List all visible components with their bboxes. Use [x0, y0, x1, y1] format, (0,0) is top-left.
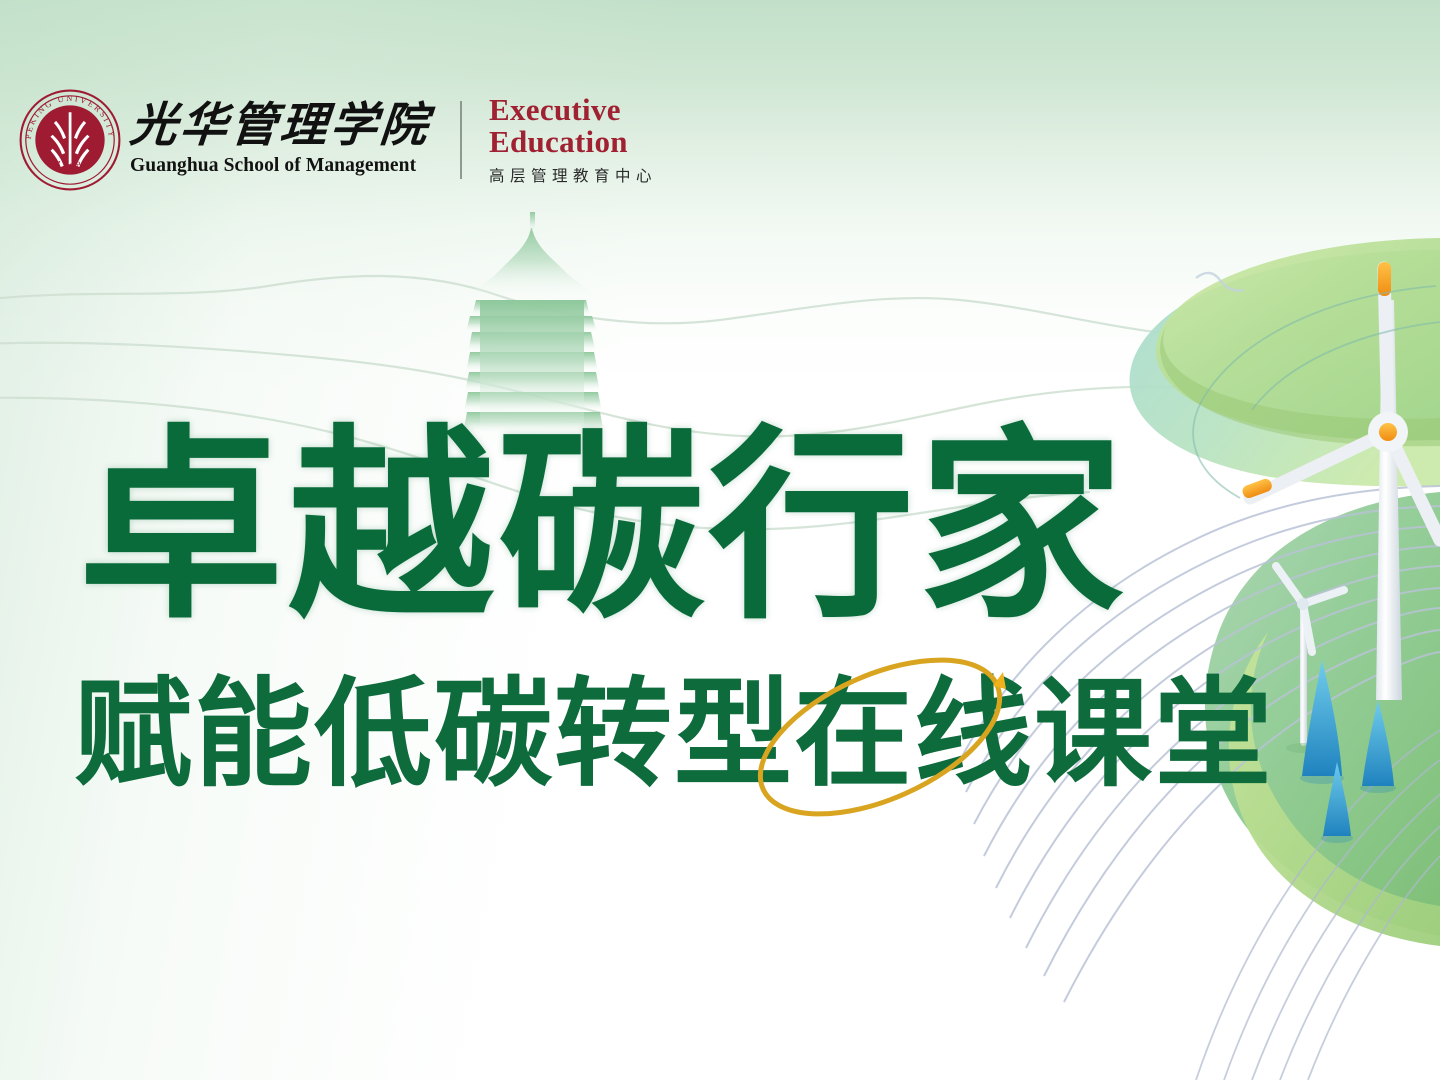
poster-canvas: PEKING UNIVERSITY 1898 光华管理学院 Guanghua S… — [0, 0, 1440, 1080]
peking-university-seal-icon: PEKING UNIVERSITY 1898 — [18, 88, 122, 192]
executive-education-block: Executive Education 高层管理教育中心 — [489, 94, 657, 187]
executive-education-line1: Executive — [489, 94, 657, 126]
guanghua-name-cn: 光华管理学院 — [128, 103, 432, 151]
blade-tip-marker-top — [1378, 262, 1391, 296]
executive-education-line2: Education — [489, 126, 657, 158]
logo-divider — [460, 101, 462, 179]
mountain-contour-lines — [0, 276, 1250, 529]
guanghua-name-block: 光华管理学院 Guanghua School of Management — [130, 103, 430, 178]
brand-lockup: PEKING UNIVERSITY 1898 光华管理学院 Guanghua S… — [18, 88, 657, 192]
executive-education-name-cn: 高层管理教育中心 — [489, 164, 657, 186]
pagoda-silhouette — [463, 212, 604, 440]
guanghua-name-en: Guanghua School of Management — [130, 155, 416, 177]
